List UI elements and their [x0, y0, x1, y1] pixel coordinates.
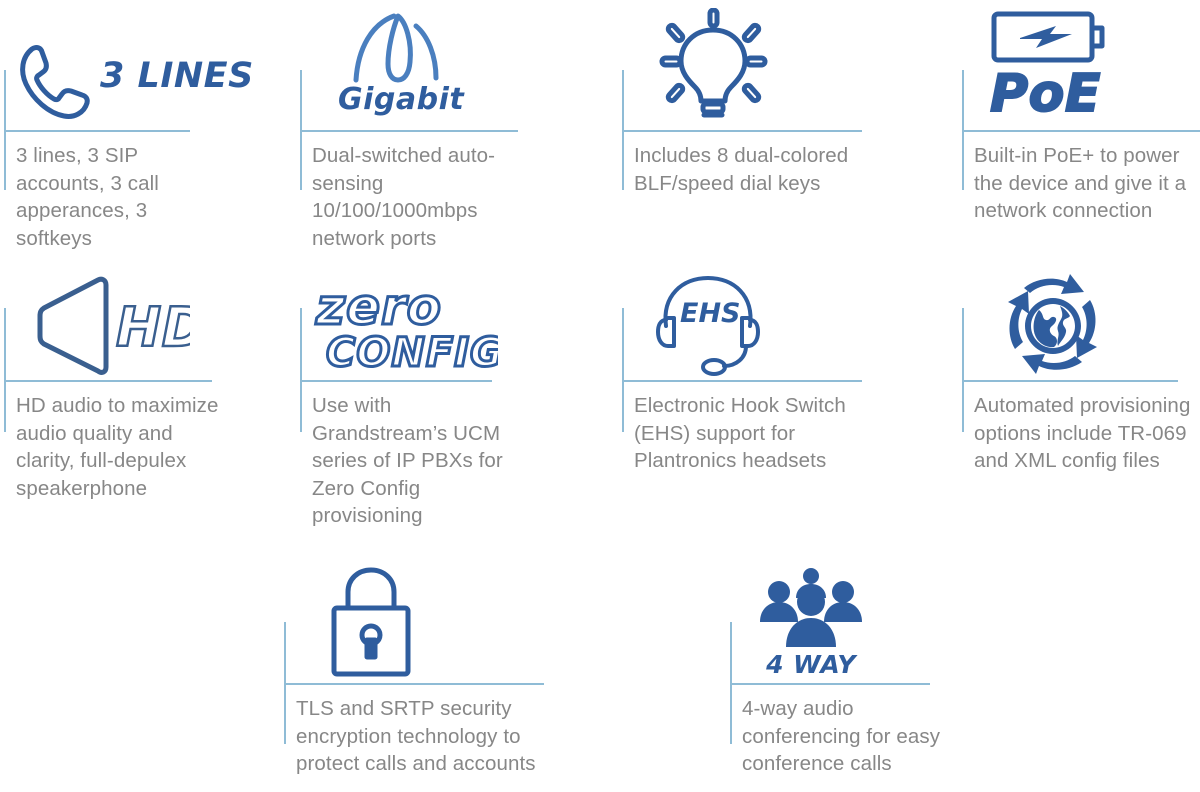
card-horizontal-rule — [300, 130, 518, 132]
icon-label-poe: PoE — [990, 68, 1101, 120]
feature-card-gigabit: Gigabit Dual-switched auto-sensing 10/10… — [300, 8, 560, 258]
feature-description: HD audio to maximize audio quality and c… — [16, 392, 221, 502]
card-horizontal-rule — [4, 130, 190, 132]
feature-description: TLS and SRTP security encryption technol… — [296, 695, 558, 778]
feature-card-four-way: 4 WAY 4-way audio conferencing for easy … — [730, 560, 990, 792]
card-horizontal-rule — [300, 380, 492, 382]
feature-card-auto-provisioning: Automated provisioning options include T… — [962, 270, 1200, 530]
card-vertical-rule — [300, 308, 302, 432]
headset-ehs-icon: EHS — [652, 270, 772, 378]
icon-label-four-way: 4 WAY — [766, 650, 856, 679]
feature-card-poe: PoE Built-in PoE+ to power the device an… — [962, 8, 1200, 258]
feature-description: Electronic Hook Switch (EHS) support for… — [634, 392, 884, 475]
battery-bolt-icon: PoE — [990, 8, 1110, 126]
feature-grid: 3 LINES 3 lines, 3 SIP accounts, 3 call … — [0, 0, 1200, 792]
feature-card-three-lines: 3 LINES 3 lines, 3 SIP accounts, 3 call … — [4, 8, 264, 258]
padlock-icon — [326, 562, 416, 680]
feature-description: Dual-switched auto-sensing 10/100/1000mb… — [312, 142, 532, 252]
globe-arrows-icon — [994, 270, 1112, 378]
people-group-icon: 4 WAY — [756, 564, 866, 680]
svg-text:EHS: EHS — [680, 298, 741, 329]
feature-description: Includes 8 dual-colored BLF/speed dial k… — [634, 142, 884, 197]
feature-card-security: TLS and SRTP security encryption technol… — [284, 560, 564, 792]
card-horizontal-rule — [622, 130, 862, 132]
lightbulb-icon — [648, 8, 778, 126]
feature-card-zero-config: zero CONFIG Use with Grandstream’s UCM s… — [300, 270, 560, 530]
card-horizontal-rule — [730, 683, 930, 685]
card-vertical-rule — [962, 308, 964, 432]
zero-config-icon: zero CONFIG — [308, 278, 498, 378]
feature-description: 4-way audio conferencing for easy confer… — [742, 695, 942, 778]
feature-description: 3 lines, 3 SIP accounts, 3 call apperanc… — [16, 142, 196, 252]
feature-description: Automated provisioning options include T… — [974, 392, 1200, 475]
card-horizontal-rule — [962, 380, 1178, 382]
svg-text:HD: HD — [116, 296, 190, 359]
feature-card-hd-audio: HD HD audio to maximize audio quality an… — [4, 270, 264, 530]
feature-card-ehs: EHS Electronic Hook Switch (EHS) support… — [622, 270, 902, 530]
feature-description: Use with Grandstream’s UCM series of IP … — [312, 392, 527, 530]
svg-text:CONFIG: CONFIG — [326, 330, 498, 374]
card-horizontal-rule — [4, 380, 212, 382]
icon-label-gigabit: Gigabit — [338, 82, 464, 117]
card-vertical-rule — [4, 308, 6, 432]
phone-handset-icon: 3 LINES — [14, 22, 254, 122]
feature-description: Built-in PoE+ to power the device and gi… — [974, 142, 1200, 225]
icon-label-three-lines: 3 LINES — [100, 56, 254, 96]
svg-text:zero: zero — [315, 278, 442, 336]
gigabit-swoosh-icon: Gigabit — [338, 8, 464, 126]
card-horizontal-rule — [962, 130, 1200, 132]
card-vertical-rule — [622, 308, 624, 432]
feature-card-blf-keys: Includes 8 dual-colored BLF/speed dial k… — [622, 8, 902, 258]
card-horizontal-rule — [284, 683, 544, 685]
card-horizontal-rule — [622, 380, 862, 382]
speaker-hd-icon: HD — [30, 274, 190, 378]
